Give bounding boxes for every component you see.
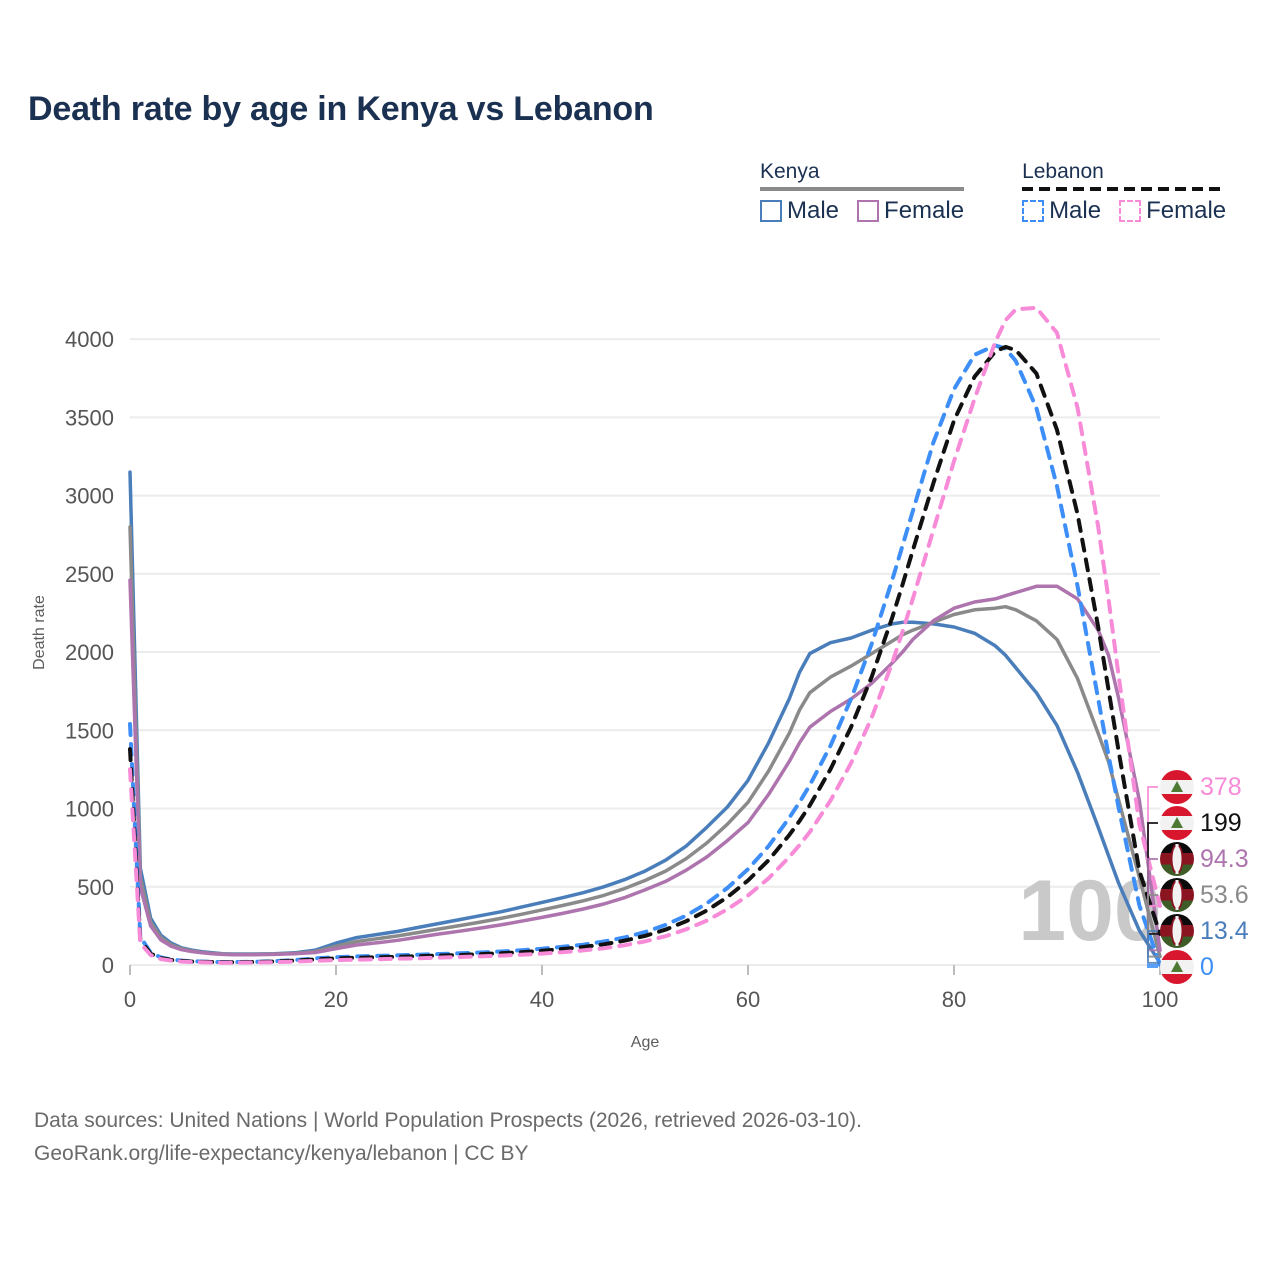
leader-line	[1148, 965, 1160, 967]
footer-line-1: Data sources: United Nations | World Pop…	[34, 1105, 862, 1138]
y-tick-label: 1500	[65, 718, 114, 743]
kenya-flag-icon	[1160, 842, 1194, 876]
footer-line-2: GeoRank.org/life-expectancy/kenya/lebano…	[34, 1138, 862, 1171]
x-tick-label: 60	[736, 987, 760, 1012]
chart-footer: Data sources: United Nations | World Pop…	[34, 1105, 862, 1170]
y-tick-label: 3000	[65, 484, 114, 509]
x-tick-label: 0	[124, 987, 136, 1012]
y-tick-label: 4000	[65, 327, 114, 352]
end-label-value: 378	[1200, 773, 1242, 802]
kenya-flag-icon	[1160, 914, 1194, 948]
x-tick-label: 100	[1142, 987, 1179, 1012]
plot-area: 0500100015002000250030003500400010002040…	[0, 0, 1280, 1280]
y-tick-label: 3500	[65, 405, 114, 430]
end-label-199: 199	[1160, 806, 1242, 840]
x-axis-title: Age	[631, 1034, 660, 1051]
lebanon-flag-icon	[1160, 770, 1194, 804]
end-label-53.6: 53.6	[1160, 878, 1249, 912]
end-label-value: 199	[1200, 809, 1242, 838]
lebanon-flag-icon	[1160, 950, 1194, 984]
kenya-flag-icon	[1160, 878, 1194, 912]
end-label-378: 378	[1160, 770, 1242, 804]
y-tick-label: 2000	[65, 640, 114, 665]
x-tick-label: 80	[942, 987, 966, 1012]
lebanon-flag-icon	[1160, 806, 1194, 840]
y-tick-label: 1000	[65, 797, 114, 822]
x-tick-label: 20	[324, 987, 348, 1012]
end-label-value: 0	[1200, 953, 1214, 982]
end-label-value: 94.3	[1200, 845, 1249, 874]
series-line-kenya-total	[130, 527, 1160, 957]
end-label-0: 0	[1160, 950, 1214, 984]
series-line-kenya-female	[130, 580, 1160, 955]
y-tick-label: 0	[102, 953, 114, 978]
end-label-94.3: 94.3	[1160, 842, 1249, 876]
end-label-value: 13.4	[1200, 917, 1249, 946]
y-axis-title: Death rate	[31, 595, 48, 670]
end-label-13.4: 13.4	[1160, 914, 1249, 948]
x-tick-label: 40	[530, 987, 554, 1012]
end-label-value: 53.6	[1200, 881, 1249, 910]
y-tick-label: 500	[77, 875, 114, 900]
y-tick-label: 2500	[65, 562, 114, 587]
chart-root: Death rate by age in Kenya vs Lebanon Ke…	[0, 0, 1280, 1280]
series-line-lebanon-female	[130, 308, 1160, 963]
